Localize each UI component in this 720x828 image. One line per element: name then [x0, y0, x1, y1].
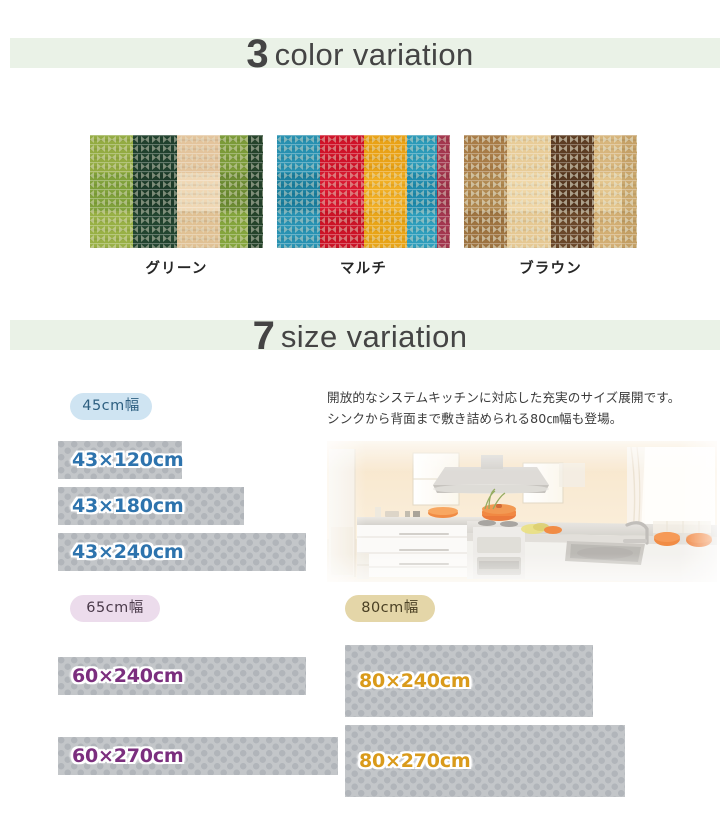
color-swatch-brown-image	[464, 135, 637, 248]
color-swatch-row: グリーン マルチ	[0, 135, 720, 283]
color-heading-label: color variation	[275, 37, 474, 72]
size-bar-60x270[interactable]: 60×270cm	[58, 737, 338, 775]
size-pill-65-label: 65cm幅	[86, 600, 144, 616]
color-heading-number: 3	[246, 32, 267, 76]
size-bar-80x270-label: 80×270cm	[359, 750, 470, 772]
color-swatch-multi-caption: マルチ	[277, 257, 450, 278]
size-pill-80-label: 80cm幅	[361, 600, 419, 616]
size-pill-65: 65cm幅	[70, 595, 160, 622]
size-bar-80x240[interactable]: 80×240cm	[345, 645, 593, 717]
size-heading: 7size variation	[0, 316, 720, 356]
color-swatch-brown-caption: ブラウン	[464, 257, 637, 278]
color-swatch-brown[interactable]: ブラウン	[464, 135, 637, 278]
size-bar-60x240-label: 60×240cm	[72, 665, 183, 687]
size-bar-80x270[interactable]: 80×270cm	[345, 725, 625, 797]
size-heading-label: size variation	[281, 319, 468, 354]
color-swatch-green-caption: グリーン	[90, 257, 263, 278]
size-description-line-2: シンクから背面まで敷き詰められる80㎝幅も登場。	[327, 409, 717, 430]
green-weave-icon	[90, 135, 263, 248]
size-bar-43x180[interactable]: 43×180cm	[58, 487, 244, 525]
color-swatch-green-image	[90, 135, 263, 248]
size-pill-45: 45cm幅	[70, 393, 152, 420]
kitchen-photo-image	[327, 441, 717, 582]
size-bar-43x240[interactable]: 43×240cm	[58, 533, 306, 571]
color-swatch-multi-image	[277, 135, 450, 248]
color-heading: 3color variation	[0, 34, 720, 74]
size-bar-43x120[interactable]: 43×120cm	[58, 441, 182, 479]
multi-weave-icon	[277, 135, 450, 248]
size-pill-80: 80cm幅	[345, 595, 435, 622]
size-bar-43x180-label: 43×180cm	[72, 495, 183, 517]
size-bar-43x240-label: 43×240cm	[72, 541, 183, 563]
size-bar-80x240-label: 80×240cm	[359, 670, 470, 692]
size-bar-43x120-label: 43×120cm	[72, 449, 183, 471]
size-description-line-1: 開放的なシステムキッチンに対応した充実のサイズ展開です。	[327, 388, 717, 409]
color-swatch-multi[interactable]: マルチ	[277, 135, 450, 278]
size-heading-number: 7	[253, 314, 274, 358]
color-swatch-green[interactable]: グリーン	[90, 135, 263, 278]
brown-weave-icon	[464, 135, 637, 248]
size-bar-60x270-label: 60×270cm	[72, 745, 183, 767]
size-bar-60x240[interactable]: 60×240cm	[58, 657, 306, 695]
size-description: 開放的なシステムキッチンに対応した充実のサイズ展開です。 シンクから背面まで敷き…	[327, 388, 717, 430]
size-pill-45-label: 45cm幅	[82, 398, 140, 414]
kitchen-photo	[327, 441, 717, 582]
